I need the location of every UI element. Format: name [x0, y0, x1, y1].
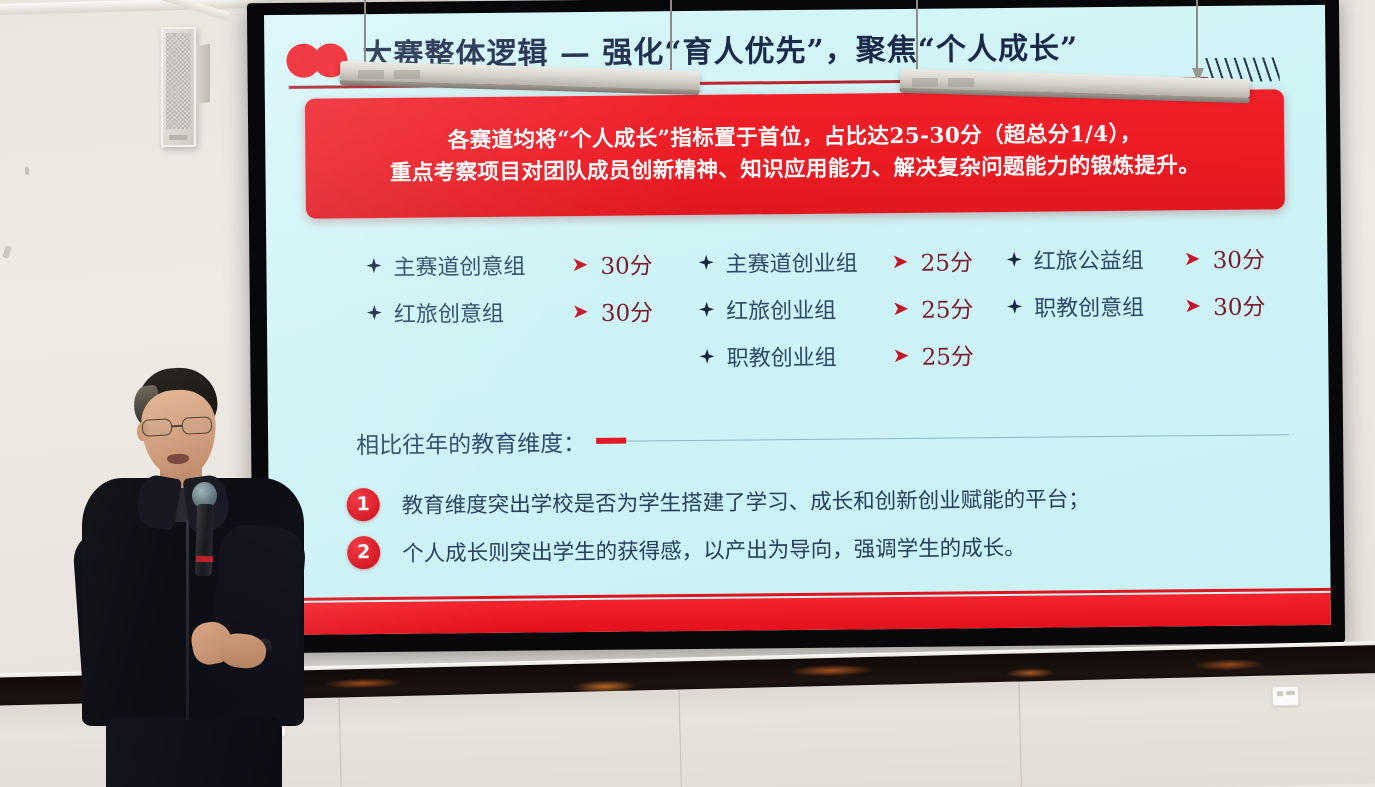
diamond-bullet-icon — [367, 305, 382, 320]
score-row: 红旅公益组 ➤ 30分 — [1006, 233, 1277, 283]
score-value: 30分 — [601, 293, 654, 328]
arrow-right-icon: ➤ — [892, 298, 912, 316]
section-heading-text: 相比往年的教育维度： — [356, 424, 586, 460]
arrow-right-icon: ➤ — [1184, 249, 1204, 267]
diamond-bullet-icon — [1007, 299, 1022, 314]
diamond-bullet-icon — [699, 255, 714, 270]
score-row: 红旅创业组 ➤ 25分 — [699, 283, 1007, 333]
arrow-right-icon: ➤ — [892, 251, 912, 269]
numbered-list: 1 教育维度突出学校是否为学生搭建了学习、成长和创新创业赋能的平台； 2 个人成… — [346, 471, 1290, 576]
score-value: 30分 — [600, 246, 653, 281]
score-label: 红旅创业组 — [726, 292, 892, 326]
score-row: 红旅创意组 ➤ 30分 — [367, 286, 700, 336]
score-row: 职教创业组 ➤ 25分 — [699, 330, 1007, 380]
arrow-right-icon: ➤ — [572, 301, 592, 319]
presenter — [82, 360, 312, 787]
diamond-bullet-icon — [366, 258, 381, 273]
score-value: 30分 — [1213, 287, 1266, 322]
score-label: 职教创业组 — [726, 339, 892, 373]
heading-rule — [626, 434, 1289, 441]
score-label: 红旅公益组 — [1034, 242, 1184, 275]
number-badge: 1 — [347, 488, 380, 521]
score-label: 职教创意组 — [1034, 289, 1184, 322]
arrow-right-icon: ➤ — [1184, 296, 1204, 314]
microphone-ring — [196, 556, 213, 563]
score-value: 25分 — [921, 243, 974, 278]
wall-speaker — [161, 27, 196, 147]
list-item-text: 个人成长则突出学生的获得感，以产出为导向，强调学生的成长。 — [402, 530, 1026, 567]
score-value: 25分 — [921, 290, 974, 325]
heading-dash-icon — [596, 438, 626, 444]
arrow-right-icon: ➤ — [571, 254, 591, 272]
score-value: 25分 — [921, 337, 974, 372]
score-label: 主赛道创意组 — [393, 248, 571, 282]
speaker-bracket — [196, 44, 210, 104]
score-row: 主赛道创意组 ➤ 30分 — [366, 239, 699, 289]
diamond-bullet-icon — [700, 349, 715, 364]
score-column-2: 主赛道创业组 ➤ 25分 红旅创业组 ➤ 25分 职教创业组 — [698, 236, 1007, 380]
score-row: 职教创意组 ➤ 30分 — [1007, 280, 1278, 330]
score-row: 主赛道创业组 ➤ 25分 — [698, 236, 1006, 286]
score-column-1: 主赛道创意组 ➤ 30分 红旅创意组 ➤ 30分 — — [366, 239, 700, 383]
wall-mark — [25, 167, 29, 175]
jacket-zipper — [186, 520, 189, 720]
highlight-banner: 各赛道均将“个人成长”指标置于首位，占比达25-30分（超总分1/4）， 重点考… — [305, 89, 1285, 218]
score-value: 30分 — [1213, 240, 1266, 275]
presenter-right-arm — [206, 523, 307, 706]
list-item-text: 教育维度突出学校是否为学生搭建了学习、成长和创新创业赋能的平台； — [402, 482, 1090, 520]
arrow-right-icon: ➤ — [893, 345, 913, 363]
presenter-trousers — [106, 718, 282, 787]
microphone-body — [195, 504, 215, 577]
section-heading: 相比往年的教育维度： — [356, 417, 1289, 460]
score-column-3: 红旅公益组 ➤ 30分 职教创意组 ➤ 30分 — — [1006, 233, 1278, 377]
diamond-bullet-icon — [1007, 252, 1022, 267]
score-grid: 主赛道创意组 ➤ 30分 红旅创意组 ➤ 30分 — — [366, 233, 1278, 383]
number-badge: 2 — [347, 536, 380, 569]
conference-room-scene: 大赛整体逻辑 — 强化“育人优先”，聚焦“个人成长” 各赛道均将“个人成长”指标… — [0, 0, 1375, 787]
banner-line-2: 重点考察项目对团队成员创新精神、知识应用能力、解决复杂问题能力的锻炼提升。 — [390, 150, 1201, 190]
wall-outlet — [1272, 686, 1299, 707]
diamond-bullet-icon — [699, 302, 714, 317]
score-label: 红旅创意组 — [394, 295, 572, 329]
list-item: 2 个人成长则突出学生的获得感，以产出为导向，强调学生的成长。 — [347, 519, 1290, 576]
score-label: 主赛道创业组 — [726, 245, 892, 279]
